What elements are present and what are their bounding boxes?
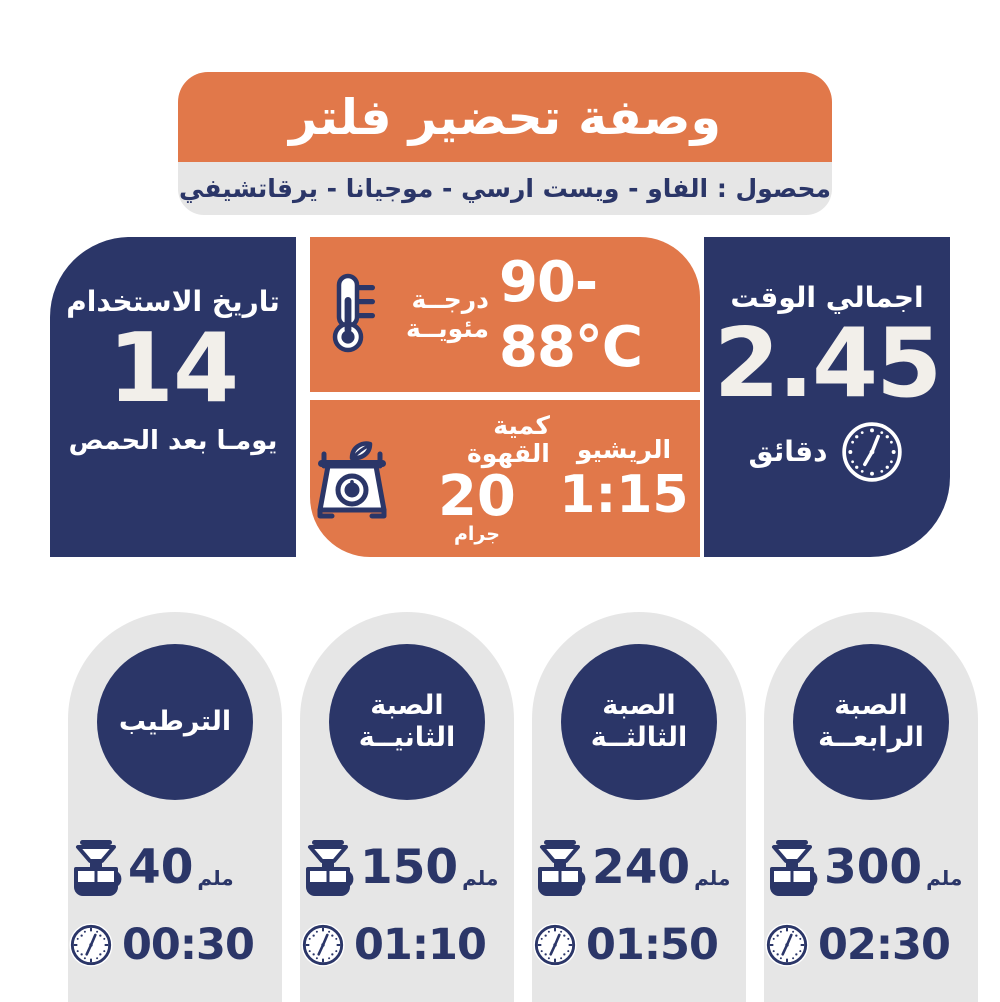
header: وصفة تحضير فلتر محصول : الفاو - ويست ارس… [178, 72, 832, 215]
total-time-value: 2.45 [714, 316, 940, 413]
brew-step-volume-row: 150 ملم [300, 838, 514, 896]
temperature-label: درجــة مئويــة [406, 286, 489, 344]
ratio-label: الريشيو [577, 436, 671, 464]
clock-icon [68, 922, 114, 968]
usage-date-card: تاريخ الاستخدام 14 يومـا بعد الحمص [50, 237, 296, 557]
coffee-amount-unit: جرام [454, 523, 500, 545]
total-time-unit: دقائق [749, 435, 828, 468]
subtitle-bar: محصول : الفاو - ويست ارسي - موجيانا - ير… [178, 162, 832, 215]
brew-step-volume: 240 [592, 844, 690, 891]
brew-step-volume: 300 [824, 844, 922, 891]
brew-step-volume-unit: ملم [462, 866, 498, 896]
coffee-amount-label: كمية القهوة [404, 412, 550, 467]
brew-steps-row: الصبة الرابعــة 300 ملم [22, 612, 978, 1002]
origin-subtitle: محصول : الفاو - ويست ارسي - موجيانا - ير… [179, 174, 831, 203]
brew-step-volume-unit: ملم [197, 866, 233, 896]
brew-step-volume-row: 40 ملم [68, 838, 282, 896]
thermometer-icon [326, 273, 384, 357]
brew-step-badge: الصبة الرابعــة [793, 644, 949, 800]
scale-icon [312, 436, 392, 522]
coffee-amount-value: 20 [438, 469, 516, 525]
brew-step-name: الترطيب [119, 706, 231, 738]
brew-step-time: 00:30 [122, 924, 254, 967]
brew-step-volume: 150 [360, 844, 458, 891]
brew-step-volume-row: 240 ملم [532, 838, 746, 896]
page-title: وصفة تحضير فلتر [289, 93, 721, 142]
brew-step-card: الترطيب 40 ملم [68, 612, 282, 1002]
brew-step-volume: 40 [128, 844, 193, 891]
brew-step-time-row: 00:30 [68, 922, 282, 968]
brew-step-time-row: 01:50 [532, 922, 746, 968]
brew-step-card: الصبة الثالثــة 240 ملم [532, 612, 746, 1002]
brew-step-volume-unit: ملم [694, 866, 730, 896]
total-time-card: اجمالي الوقت 2.45 [704, 237, 950, 557]
brew-step-badge: الصبة الثالثــة [561, 644, 717, 800]
brew-step-badge: الصبة الثانيــة [329, 644, 485, 800]
clock-icon [300, 922, 346, 968]
brew-step-volume-unit: ملم [926, 866, 962, 896]
brew-step-volume-row: 300 ملم [764, 838, 978, 896]
pourover-dripper-icon [532, 838, 588, 896]
temperature-card: درجــة مئويــة 90-88°C [310, 237, 700, 392]
brew-step-card: الصبة الثانيــة 150 ملم [300, 612, 514, 1002]
ratio-group: الريشيو 1:15 [556, 436, 692, 522]
pourover-dripper-icon [764, 838, 820, 896]
brew-step-name: الصبة الثانيــة [359, 690, 456, 754]
brew-step-badge: الترطيب [97, 644, 253, 800]
temperature-value: 90-88°C [499, 250, 700, 380]
brew-step-time: 01:10 [354, 924, 486, 967]
brew-step-name: الصبة الثالثــة [591, 690, 688, 754]
pourover-dripper-icon [300, 838, 356, 896]
clock-icon [764, 922, 810, 968]
brew-step-time-row: 02:30 [764, 922, 978, 968]
total-time-unit-row: دقائق [749, 419, 906, 485]
coffee-amount-group: كمية القهوة 20 جرام [404, 412, 550, 545]
brew-step-time: 01:50 [586, 924, 718, 967]
usage-date-value: 14 [108, 320, 238, 420]
pourover-dripper-icon [68, 838, 124, 896]
info-cards-row: اجمالي الوقت 2.45 [50, 237, 950, 557]
usage-date-unit: يومـا بعد الحمص [69, 426, 278, 456]
brew-step-name: الصبة الرابعــة [818, 690, 924, 754]
clock-icon [839, 419, 905, 485]
title-banner: وصفة تحضير فلتر [178, 72, 832, 162]
brew-step-time-row: 01:10 [300, 922, 514, 968]
brew-step-time: 02:30 [818, 924, 950, 967]
brew-step-card: الصبة الرابعــة 300 ملم [764, 612, 978, 1002]
clock-icon [532, 922, 578, 968]
ratio-value: 1:15 [559, 469, 688, 521]
coffee-dose-card: كمية القهوة 20 جرام الريشيو 1:15 [310, 400, 700, 557]
